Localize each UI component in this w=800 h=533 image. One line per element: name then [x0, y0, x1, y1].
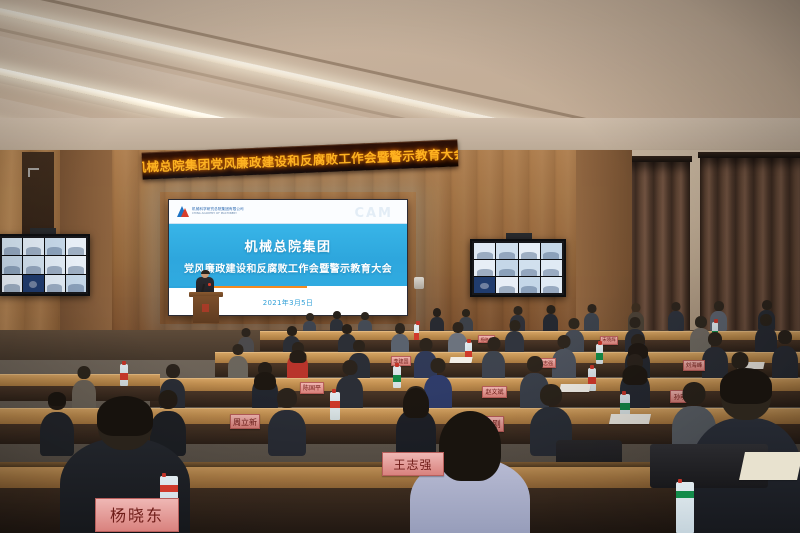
wall-hook-icon — [28, 168, 39, 170]
wooden-podium — [191, 292, 221, 323]
logo-text-cn: 机械科学研究总院集团有限公司 — [192, 207, 244, 211]
wall-speaker — [414, 277, 424, 289]
name-card-foreground: 杨晓东 — [95, 498, 179, 532]
name-card: 王志强 — [382, 452, 444, 476]
left-wall-monitor — [0, 234, 90, 296]
video-tile — [474, 260, 495, 276]
video-tile — [2, 275, 22, 292]
video-tile — [45, 238, 65, 255]
attendee — [543, 305, 558, 330]
video-tile — [496, 260, 517, 276]
attendee — [482, 337, 505, 378]
water-bottle — [330, 392, 340, 420]
logo-mark-icon — [176, 205, 189, 218]
video-tile — [45, 275, 65, 292]
paper-documents — [449, 357, 472, 363]
attendee — [268, 388, 306, 454]
video-tile — [23, 256, 43, 273]
attendee — [552, 335, 576, 378]
video-tile — [541, 243, 562, 259]
video-tile — [2, 256, 22, 273]
video-tile — [519, 277, 540, 293]
video-tile — [519, 243, 540, 259]
attendee — [584, 304, 599, 329]
party-badge-icon — [208, 283, 211, 286]
attendee — [287, 342, 308, 378]
slide-subtitle: 党风廉政建设和反腐败工作会暨警示教育大会 — [184, 260, 392, 275]
slide-watermark: CAM — [354, 206, 393, 221]
name-card: 周立新 — [230, 414, 260, 429]
attendee — [391, 323, 409, 354]
video-tile — [541, 277, 562, 293]
right-wall-monitor — [470, 239, 566, 297]
video-tile — [66, 275, 86, 292]
water-bottle — [393, 366, 401, 388]
video-tile — [66, 256, 86, 273]
attendee — [358, 312, 372, 333]
slide-title: 机械总院集团 — [244, 236, 331, 255]
attendee — [430, 308, 444, 331]
water-bottle-foreground — [676, 482, 694, 533]
video-tile — [66, 238, 86, 255]
video-tile — [496, 277, 517, 293]
name-card-text: 宋晓辉 — [601, 337, 617, 344]
attendee — [228, 344, 248, 378]
video-tile — [474, 243, 495, 259]
video-tile — [496, 243, 517, 259]
name-card-text: 刘海峰 — [684, 361, 704, 369]
video-tile — [519, 260, 540, 276]
company-logo: 机械科学研究总院集团有限公司 CHINA ACADEMY OF MACHINER… — [176, 205, 244, 218]
attendee — [303, 313, 316, 333]
slide-date: 2021年3月5日 — [263, 298, 313, 308]
paper-documents — [739, 452, 800, 480]
water-bottle — [120, 364, 128, 386]
name-card: 宋晓辉 — [600, 336, 618, 345]
video-tile-active — [23, 275, 43, 292]
logo-text-en: CHINA ACADEMY OF MACHINERY — [192, 212, 244, 216]
video-tile-active — [474, 277, 495, 293]
water-bottle — [414, 324, 419, 338]
water-bottle — [596, 344, 603, 364]
video-tile — [45, 256, 65, 273]
name-card-text: 周立新 — [231, 415, 259, 427]
attendee — [505, 320, 524, 353]
video-tile — [541, 260, 562, 276]
name-card-text: 赵文斌 — [483, 387, 506, 396]
name-card-text: 杨晓东 — [96, 499, 178, 524]
video-tile — [23, 238, 43, 255]
attendee — [668, 302, 684, 329]
attendee — [336, 360, 363, 408]
video-tile — [2, 238, 22, 255]
paper-documents — [609, 414, 651, 424]
name-card: 赵文斌 — [482, 386, 507, 398]
conference-hall-photo: 机械总院集团党风廉政建设和反腐败工作会暨警示教育大会 机械科学研究总院集团有限公… — [0, 0, 800, 533]
name-card-text: 王志强 — [383, 453, 443, 471]
